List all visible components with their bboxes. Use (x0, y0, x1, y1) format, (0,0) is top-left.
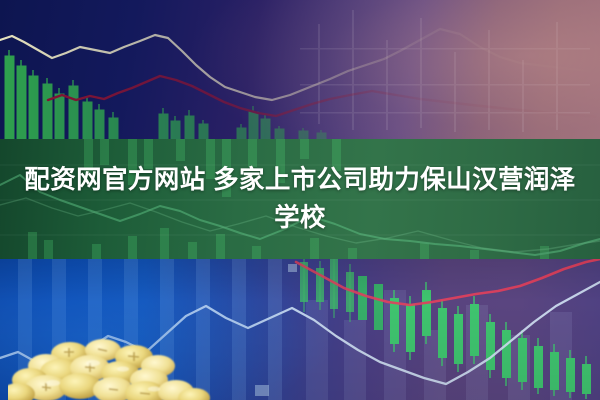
headline-line-2: 学校 (274, 199, 326, 237)
headline-block: 配资网官方网站 多家上市公司助力保山汉营润泽 学校 (0, 139, 600, 259)
banner-image: 配资网官方网站 多家上市公司助力保山汉营润泽 学校 (0, 0, 600, 400)
gold-coin-pile-icon (8, 330, 213, 400)
upper-chart-band (0, 0, 600, 139)
headline-line-1: 配资网官方网站 多家上市公司助力保山汉营润泽 (24, 161, 575, 199)
